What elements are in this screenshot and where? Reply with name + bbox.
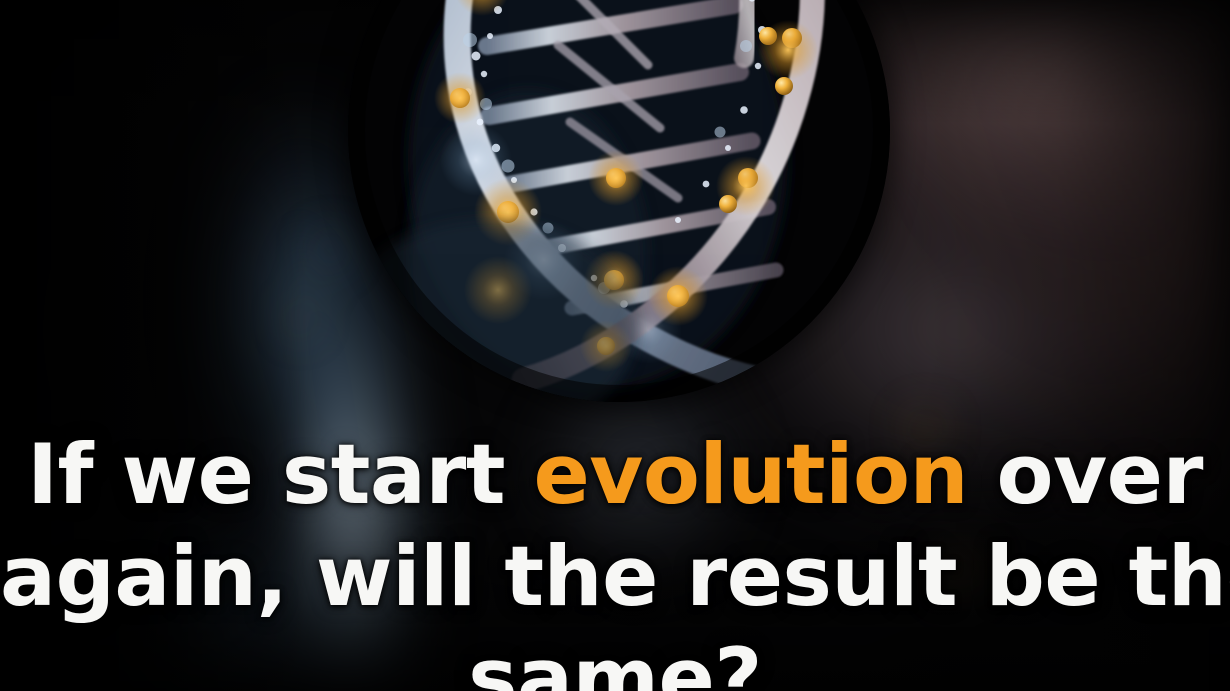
headline-line-1: If we start evolution over <box>0 424 1230 526</box>
headline-line-1-part-3: over <box>968 426 1203 523</box>
dna-helix-circle-image <box>348 0 890 402</box>
headline-line-2: again, will the result be the <box>0 526 1230 628</box>
poster-canvas: If we start evolution over again, will t… <box>0 0 1230 691</box>
page-title: If we start evolution over again, will t… <box>0 424 1230 691</box>
headline-line-1-part-1: If we start <box>27 426 533 523</box>
headline-accent-word: evolution <box>533 426 968 523</box>
headline-line-3: same? <box>0 628 1230 691</box>
